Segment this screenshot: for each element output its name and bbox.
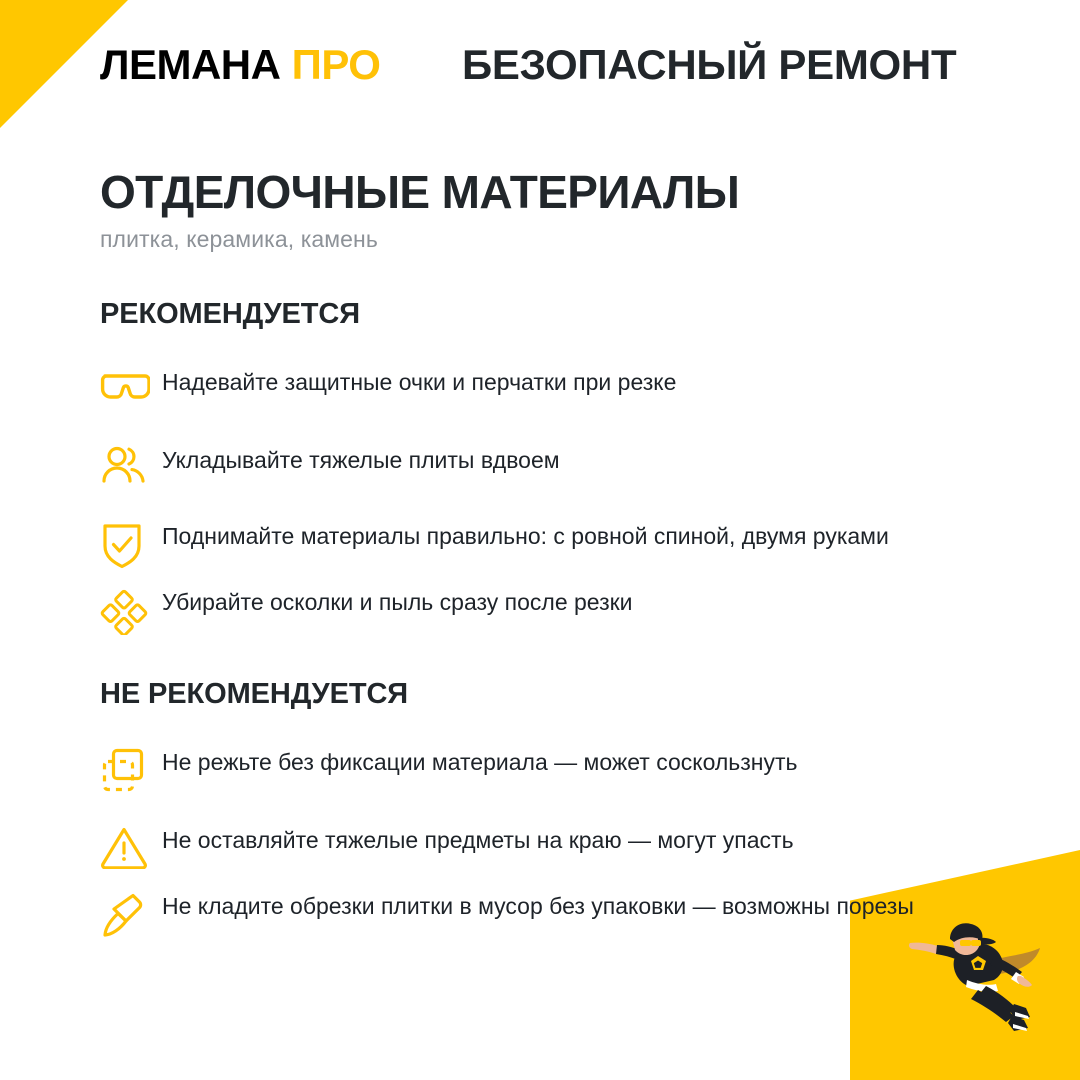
brand-logo: ЛЕМАНА ПРО: [100, 44, 380, 86]
unfixed-square-icon: [100, 745, 162, 797]
title-block: ОТДЕЛОЧНЫЕ МАТЕРИАЛЫ плитка, керамика, к…: [100, 168, 980, 253]
list-item-text: Укладывайте тяжелые плиты вдвоем: [162, 443, 932, 477]
brand-logo-main: ЛЕМАНА: [100, 41, 280, 88]
header-bar: ЛЕМАНА ПРО БЕЗОПАСНЫЙ РЕМОНТ: [0, 0, 1080, 130]
list-item-text: Поднимайте материалы правильно: с ровной…: [162, 519, 932, 553]
list-item: Не оставляйте тяжелые предметы на краю —…: [100, 823, 1000, 875]
poster-canvas: ЛЕМАНА ПРО БЕЗОПАСНЫЙ РЕМОНТ ОТДЕЛОЧНЫЕ …: [0, 0, 1080, 1080]
list-item: Не кладите обрезки плитки в мусор без уп…: [100, 889, 1000, 941]
section-not-recommended: НЕ РЕКОМЕНДУЕТСЯ Не режьте без фиксации …: [100, 678, 1000, 963]
safety-goggles-icon: [100, 365, 162, 417]
list-item: Не режьте без фиксации материала — может…: [100, 745, 1000, 797]
section-heading-not-recommended: НЕ РЕКОМЕНДУЕТСЯ: [100, 678, 1000, 711]
page-subtitle: плитка, керамика, камень: [100, 226, 980, 253]
list-item: Убирайте осколки и пыль сразу после резк…: [100, 585, 1000, 637]
list-item: Надевайте защитные очки и перчатки при р…: [100, 365, 1000, 417]
list-item-text: Не кладите обрезки плитки в мусор без уп…: [162, 889, 932, 923]
list-item-text: Не оставляйте тяжелые предметы на краю —…: [162, 823, 932, 857]
knife-icon: [100, 889, 162, 941]
list-item-text: Не режьте без фиксации материала — может…: [162, 745, 932, 779]
campaign-title: БЕЗОПАСНЫЙ РЕМОНТ: [462, 44, 956, 86]
list-item-text: Надевайте защитные очки и перчатки при р…: [162, 365, 932, 399]
warning-triangle-icon: [100, 823, 162, 875]
page-title: ОТДЕЛОЧНЫЕ МАТЕРИАЛЫ: [100, 168, 980, 218]
diamond-cluster-icon: [100, 585, 162, 637]
list-item: Укладывайте тяжелые плиты вдвоем: [100, 443, 1000, 495]
flying-superhero-mascot: [894, 912, 1064, 1042]
section-recommended: РЕКОМЕНДУЕТСЯ Надевайте защитные очки и …: [100, 298, 1000, 659]
two-people-icon: [100, 443, 162, 495]
list-item: Поднимайте материалы правильно: с ровной…: [100, 519, 1000, 571]
section-heading-recommended: РЕКОМЕНДУЕТСЯ: [100, 298, 1000, 331]
brand-logo-accent: ПРО: [292, 41, 381, 88]
list-item-text: Убирайте осколки и пыль сразу после резк…: [162, 585, 932, 619]
shield-check-icon: [100, 519, 162, 571]
